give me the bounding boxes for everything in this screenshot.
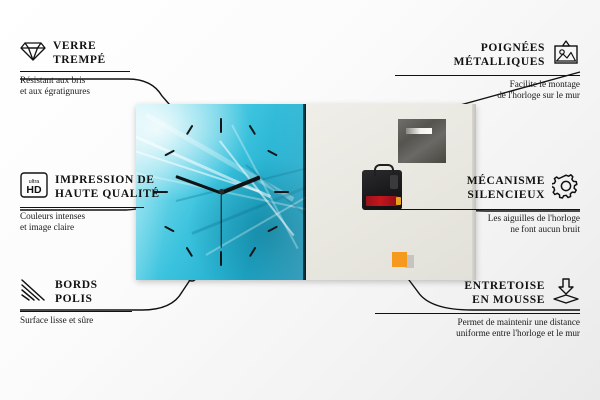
picture-hanger-icon [552, 40, 580, 71]
hanger-slot [406, 128, 432, 134]
tick-12 [220, 118, 222, 133]
tick-4 [267, 226, 277, 233]
tick-2 [267, 150, 277, 157]
feature-title-line1: ENTRETOISE [464, 280, 545, 294]
feature-subtitle-line1: Facilite le montage [395, 79, 580, 90]
feature-title-line2: EN MOUSSE [464, 294, 545, 308]
tick-11 [186, 125, 193, 135]
hour-hand [220, 175, 260, 194]
feature-title-line2: POLIS [55, 293, 98, 307]
feature-title-line1: VERRE [53, 40, 106, 54]
tick-3 [274, 191, 289, 193]
feature-subtitle-line1: Les aiguilles de l'horloge [390, 213, 580, 224]
feature-mecanisme-silencieux: MÉCANISME SILENCIEUX Les aiguilles de l'… [390, 172, 580, 235]
feature-subtitle-line1: Permet de maintenir une distance [375, 317, 580, 328]
tick-1 [249, 125, 256, 135]
feature-impression-haute-qualite: ultra HD IMPRESSION DE HAUTE QUALITÉ Cou… [20, 172, 220, 233]
feature-subtitle-line1: Couleurs intenses [20, 211, 220, 222]
feature-poignees-metalliques: POIGNÉES MÉTALLIQUES Facilite le montage… [395, 40, 580, 101]
feature-title-line2: MÉTALLIQUES [454, 56, 545, 70]
foam-spacer [392, 252, 407, 267]
feature-title-line2: TREMPÉ [53, 54, 106, 68]
feature-bords-polis: BORDS POLIS Surface lisse et sûre [20, 278, 210, 326]
feature-subtitle-line1: Résistant aux bris [20, 75, 205, 86]
feature-subtitle-line2: uniforme entre l'horloge et le mur [375, 328, 580, 339]
infographic-canvas: VERRE TREMPÉ Résistant aux bris et aux é… [0, 0, 600, 400]
feature-divider [20, 207, 144, 208]
feature-subtitle-line2: de l'horloge sur le mur [395, 90, 580, 101]
tick-7 [186, 247, 193, 257]
feature-title-line2: SILENCIEUX [467, 189, 545, 203]
diamond-icon [20, 40, 46, 67]
foam-spacer-icon [552, 278, 580, 309]
feature-title-line1: BORDS [55, 279, 98, 293]
tick-5 [249, 247, 256, 257]
feature-title-line1: POIGNÉES [454, 42, 545, 56]
feature-subtitle-line2: et image claire [20, 222, 220, 233]
gear-icon [552, 172, 580, 205]
feature-entretoise-en-mousse: ENTRETOISE EN MOUSSE Permet de maintenir… [375, 278, 580, 339]
feature-divider [20, 71, 130, 72]
feature-title-line1: MÉCANISME [467, 175, 545, 189]
feature-divider [390, 209, 580, 210]
metal-hanger-plate [398, 119, 446, 163]
feature-divider [20, 311, 132, 312]
ultra-hd-icon: ultra HD [20, 172, 48, 203]
feature-divider [375, 313, 580, 314]
feature-subtitle-line1: Surface lisse et sûre [20, 315, 210, 326]
ultra-hd-icon-large-text: HD [26, 184, 42, 196]
feature-title-line1: IMPRESSION DE [55, 174, 160, 188]
tick-10 [164, 150, 174, 157]
feature-subtitle-line2: ne font aucun bruit [390, 224, 580, 235]
second-hand [220, 192, 221, 248]
polished-edges-icon [20, 278, 48, 307]
feature-subtitle-line2: et aux égratignures [20, 86, 205, 97]
feature-title-line2: HAUTE QUALITÉ [55, 188, 160, 202]
feature-divider [395, 75, 580, 76]
tick-6 [220, 251, 222, 266]
feature-verre-trempe: VERRE TREMPÉ Résistant aux bris et aux é… [20, 40, 205, 97]
